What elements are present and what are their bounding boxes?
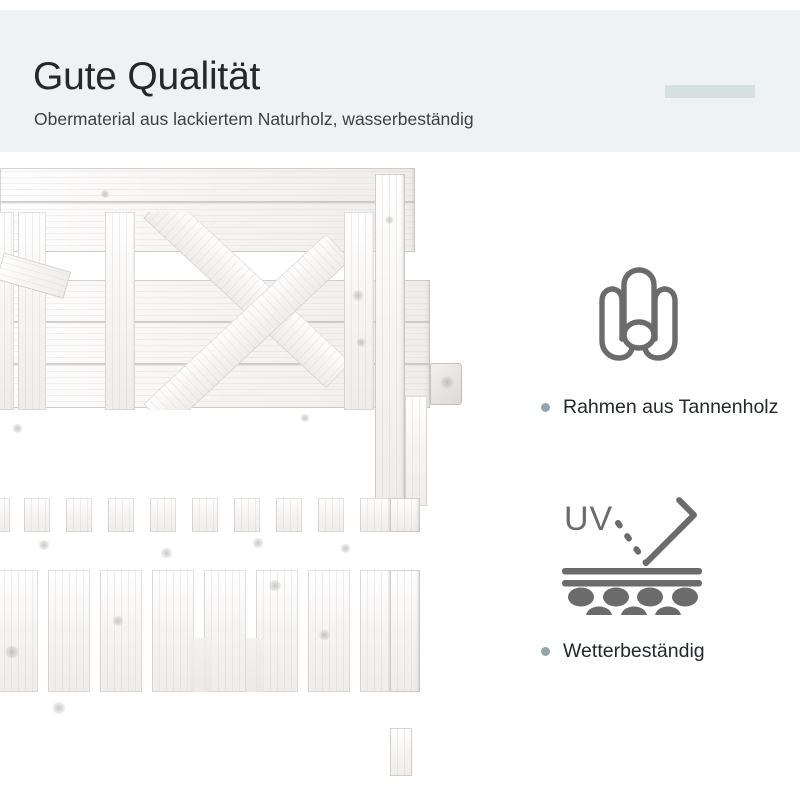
feature-frame-label-row: Rahmen aus Tannenholz [541,395,778,419]
product-image-bench [0,168,500,768]
feature-weather-label: Wetterbeständig [563,639,705,663]
feature-weather-label-row: Wetterbeständig [541,639,705,663]
uv-icon-text: UV [564,500,613,538]
page-title: Gute Qualität [33,54,260,100]
page-subtitle: Obermaterial aus lackiertem Naturholz, w… [34,107,474,131]
uv-resistant-icon: UV [558,490,708,615]
bullet-icon [541,647,550,656]
feature-frame-label: Rahmen aus Tannenholz [563,395,778,419]
header-accent-bar [665,85,755,98]
wood-logs-icon [586,263,691,368]
product-feature-banner: Gute Qualität Obermaterial aus lackierte… [0,0,800,800]
header-band: Gute Qualität Obermaterial aus lackierte… [0,10,800,152]
bullet-icon [541,403,550,412]
